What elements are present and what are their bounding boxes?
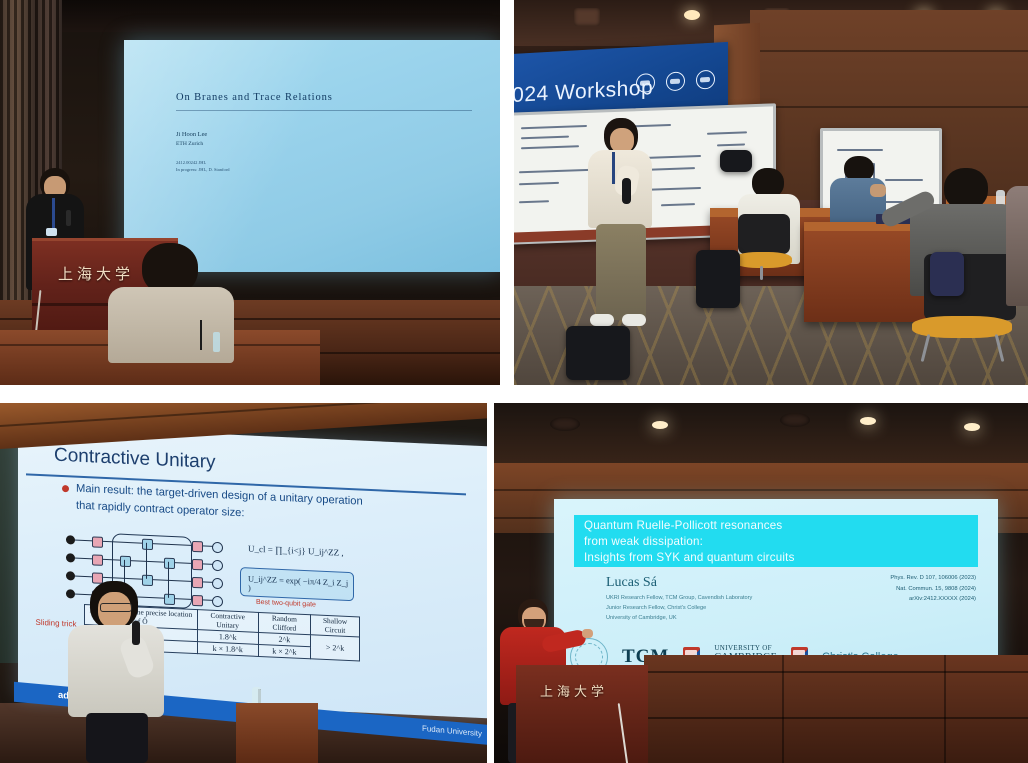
speaker-legs (596, 224, 646, 320)
audience-body (1006, 186, 1028, 306)
slide-ref-2: Nat. Commun. 15, 9808 (2024) (890, 584, 976, 595)
mic-stand (200, 320, 202, 350)
table-header-cell: Contractive Unitary (197, 610, 258, 633)
slide-affiliation-1: UKRI Research Fellow, TCM Group, Cavendi… (606, 594, 752, 604)
banner-logo-row (636, 70, 715, 93)
circuit-gate (192, 595, 203, 606)
banner-circle-logo-icon (696, 70, 715, 90)
circuit-output-node (212, 596, 223, 607)
circuit-link (146, 543, 147, 579)
backpack (696, 250, 740, 308)
speaker-standing (576, 118, 662, 348)
shoe (622, 314, 646, 326)
slide-author-block: Ji Hoon Lee ETH Zurich (176, 130, 207, 149)
circuit-gate (192, 541, 203, 552)
ceiling-strip (62, 0, 500, 32)
circuit-input-node (66, 571, 75, 580)
whiteboard-writing (837, 149, 883, 151)
slide-rule (176, 110, 472, 111)
photo-collage: On Branes and Trace Relations Ji Hoon Le… (0, 0, 1028, 763)
chair-leg (995, 334, 1005, 362)
audience-hand (870, 184, 886, 197)
slide-ref-1: Phys. Rev. D 107, 106006 (2023) (890, 573, 976, 584)
ceiling-light (652, 421, 668, 429)
slide-affiliation-2: Junior Research Fellow, Christ's College (606, 604, 752, 614)
projection-screen: On Branes and Trace Relations Ji Hoon Le… (124, 40, 500, 272)
slide-title: On Branes and Trace Relations (176, 92, 333, 103)
chair (732, 214, 794, 280)
slide-footer-right: Fudan University (422, 724, 482, 738)
screen-glare (124, 40, 500, 272)
ceiling-speaker (780, 413, 810, 427)
whiteboard-writing (519, 182, 559, 185)
slide-author: Lucas Sá (606, 575, 657, 591)
glasses-icon (100, 603, 132, 612)
microphone (622, 178, 631, 204)
wall-wainscot (644, 655, 1028, 763)
table-cell: k × 1.8^k (197, 642, 258, 657)
slide-references: 2412.00242 JHL In progress: JHL, D. Stan… (176, 159, 230, 173)
photo-panel-bottom-left: Contractive Unitary Main result: the tar… (0, 403, 487, 763)
wainscot-line (644, 671, 1028, 673)
chair-leg (921, 334, 931, 362)
table-header-cell: Random Clifford (258, 612, 310, 634)
photo-panel-top-right: 2024 Workshop — (514, 0, 1028, 385)
slide-title-line-2: from weak dissipation: (584, 535, 703, 548)
bullet-icon (62, 485, 69, 492)
wall-seam (750, 106, 1028, 108)
bag (930, 252, 964, 296)
circuit-gate (92, 536, 103, 547)
slide-title: Contractive Unitary (54, 445, 216, 474)
circuit-input-node (66, 535, 75, 544)
circuit-gate (120, 556, 131, 567)
circuit-gate (142, 539, 153, 550)
slide-affiliation: ETH Zurich (176, 140, 207, 149)
circuit-gate (164, 558, 175, 569)
circuit-output-node (212, 542, 223, 553)
whiteboard-writing (521, 145, 579, 149)
whiteboard-writing (661, 203, 695, 206)
shoe (590, 314, 614, 326)
lanyard (612, 152, 615, 184)
whiteboard-writing (707, 131, 747, 134)
microphone (66, 210, 71, 226)
slide-title-line-3: Insights from SYK and quantum circuits (584, 551, 795, 564)
whiteboard-writing (717, 143, 745, 146)
ceiling-light (860, 417, 876, 425)
slide-author: Ji Hoon Lee (176, 130, 207, 140)
presenter-hand (582, 629, 593, 638)
slide-ref-3: arXiv:2412.XXXXX (2024) (890, 594, 976, 605)
banner-title: 2024 Workshop (514, 76, 653, 109)
chair-leg (760, 266, 763, 280)
audience-member-edge (1006, 186, 1028, 306)
slide-affiliation-block: UKRI Research Fellow, TCM Group, Cavendi… (606, 594, 752, 623)
speaker-legs (86, 713, 148, 763)
slide-affiliation-3: University of Cambridge, UK (606, 614, 752, 624)
circuit-gate (192, 559, 203, 570)
bag-on-desk (720, 150, 752, 172)
ceiling-light (964, 423, 980, 431)
table-header-cell: Shallow Circuit (311, 615, 360, 637)
wainscot-line (944, 655, 946, 763)
banner-circle-logo-icon (636, 73, 655, 93)
podium: 上海大学 (516, 665, 648, 763)
chair-back (738, 214, 790, 254)
slide-equation-boxed: U_ij^ZZ = exp( −iπ/4 Z_i Z_j ) (248, 574, 353, 597)
whiteboard-writing (519, 200, 549, 203)
table-cell: > 2^k (311, 635, 360, 661)
slide-equation-note: Best two-qubit gate (256, 599, 316, 609)
whiteboard-writing (521, 136, 569, 140)
podium-nameplate: 上海大学 (540, 681, 608, 700)
microphone (132, 621, 140, 645)
wall-seam (750, 50, 1028, 52)
circuit-gate (92, 554, 103, 565)
slide-references: Phys. Rev. D 107, 106006 (2023) Nat. Com… (890, 573, 976, 605)
table-cell: k × 2^k (258, 644, 310, 658)
photo-panel-top-left: On Branes and Trace Relations Ji Hoon Le… (0, 0, 500, 385)
ceiling-light (684, 10, 700, 20)
circuit-gate (192, 577, 203, 588)
chair-seat (734, 252, 792, 268)
speaker-standing (62, 581, 180, 763)
slide-ref-2: In progress: JHL, D. Stanford (176, 166, 230, 173)
backpack-on-floor (566, 326, 630, 380)
photo-panel-bottom-right: Quantum Ruelle-Pollicott resonances from… (494, 403, 1028, 763)
ceiling-vent (574, 8, 600, 26)
banner-circle-logo-icon (666, 71, 685, 91)
wainscot-line (782, 655, 784, 763)
circuit-output-node (212, 560, 223, 571)
ceiling-speaker (550, 417, 580, 431)
slide-title-bar: Quantum Ruelle-Pollicott resonances from… (574, 515, 978, 567)
slide-equation-box: U_ij^ZZ = exp( −iπ/4 Z_i Z_j ) (240, 567, 354, 601)
name-badge (46, 228, 57, 236)
wainscot-line (644, 717, 1028, 719)
slide-title-line-1: Quantum Ruelle-Pollicott resonances (584, 519, 782, 532)
slide-ref-1: 2412.00242 JHL (176, 159, 230, 166)
slide-equation-main: U_cl = ∏_{i<j} U_ij^ZZ , (248, 543, 344, 557)
water-bottle (213, 332, 220, 352)
podium (236, 703, 318, 763)
circuit-input-node (66, 553, 75, 562)
circuit-output-node (212, 578, 223, 589)
wall-seam (494, 489, 1028, 491)
lanyard (52, 198, 55, 228)
ceiling (494, 403, 1028, 469)
